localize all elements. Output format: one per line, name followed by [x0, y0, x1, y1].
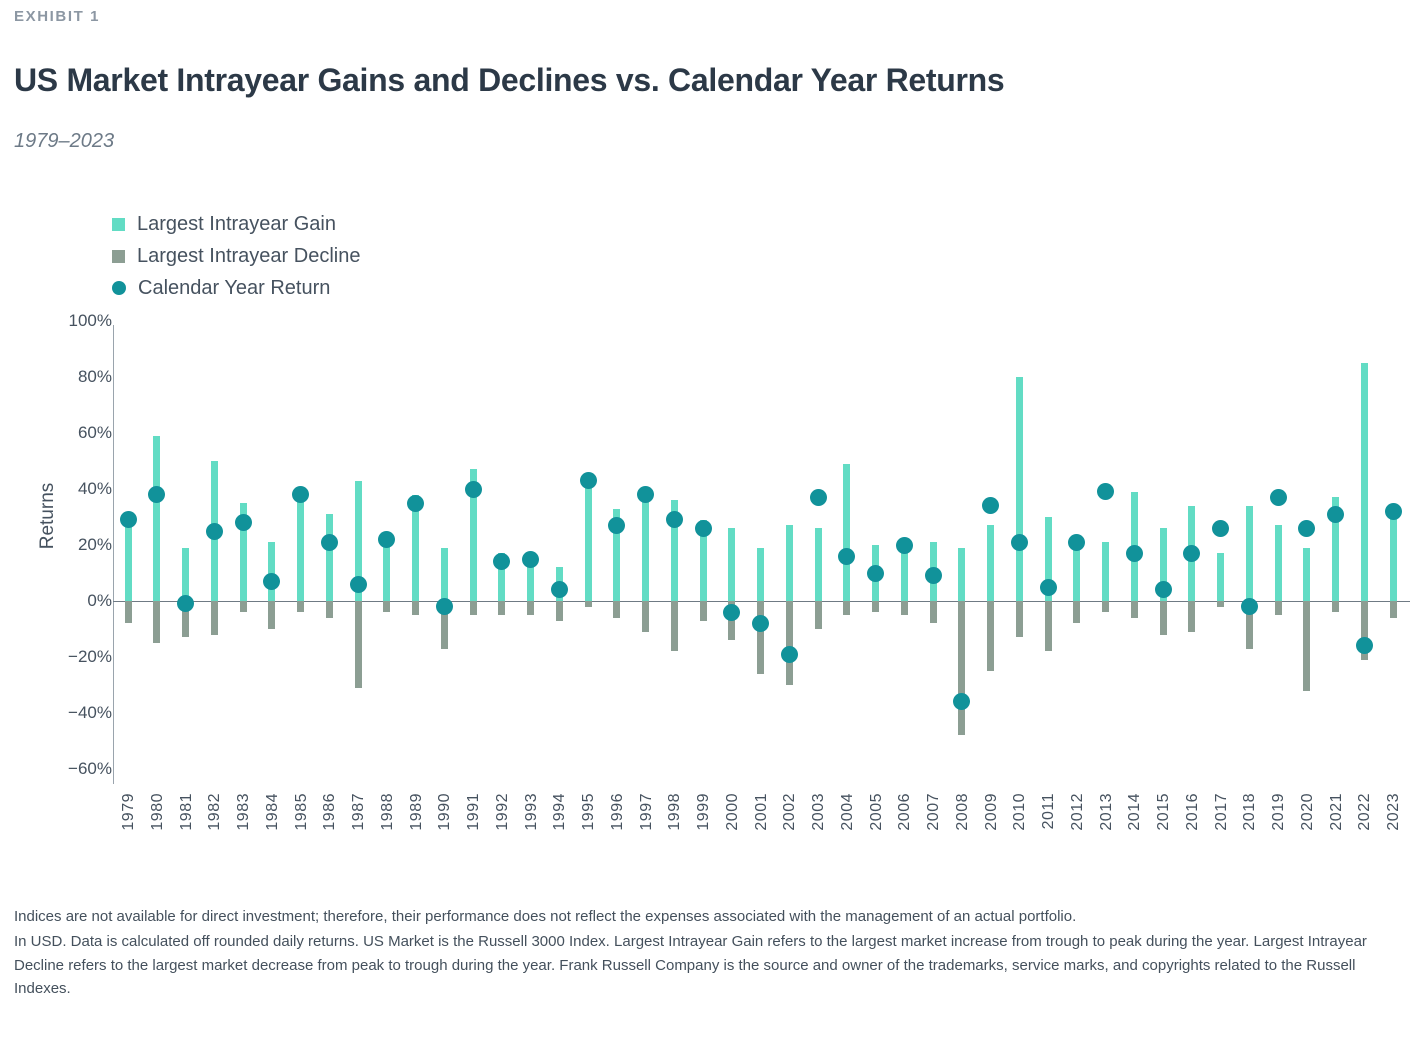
- calendar-return-dot: [465, 481, 482, 498]
- calendar-return-dot: [1298, 520, 1315, 537]
- x-axis-tick-label: 1981: [178, 793, 196, 831]
- decline-bar: [872, 601, 879, 612]
- calendar-return-dot: [781, 646, 798, 663]
- decline-bar: [1332, 601, 1339, 612]
- gain-bar: [268, 542, 275, 601]
- x-axis-tick-label: 1992: [494, 793, 512, 831]
- calendar-return-dot: [436, 598, 453, 615]
- x-axis-tick-label: 2009: [983, 793, 1001, 831]
- x-axis-tick-label: 1990: [436, 793, 454, 831]
- calendar-return-dot: [1011, 534, 1028, 551]
- decline-bar: [987, 601, 994, 671]
- decline-bar: [211, 601, 218, 635]
- y-axis-tick-label: 40%: [42, 479, 112, 499]
- x-axis-tick-label: 1989: [408, 793, 426, 831]
- decline-bar: [815, 601, 822, 629]
- chart-plot-area: Returns 100%80%60%40%20%0%−20%−40%−60%19…: [0, 0, 1421, 900]
- gain-bar: [125, 517, 132, 601]
- gain-bar: [1217, 553, 1224, 601]
- calendar-return-dot: [1270, 489, 1287, 506]
- calendar-return-dot: [695, 520, 712, 537]
- decline-bar: [1131, 601, 1138, 618]
- calendar-return-dot: [982, 497, 999, 514]
- decline-bar: [700, 601, 707, 621]
- x-axis-tick-label: 2016: [1184, 793, 1202, 831]
- calendar-return-dot: [723, 604, 740, 621]
- x-axis-tick-label: 2006: [896, 793, 914, 831]
- calendar-return-dot: [752, 615, 769, 632]
- decline-bar: [412, 601, 419, 615]
- x-axis-tick-label: 1982: [206, 793, 224, 831]
- calendar-return-dot: [493, 553, 510, 570]
- x-axis-tick-label: 2007: [925, 793, 943, 831]
- calendar-return-dot: [551, 581, 568, 598]
- calendar-return-dot: [407, 495, 424, 512]
- x-axis-tick-label: 1997: [638, 793, 656, 831]
- calendar-return-dot: [292, 486, 309, 503]
- calendar-return-dot: [1212, 520, 1229, 537]
- x-axis-tick-label: 2004: [839, 793, 857, 831]
- x-axis-tick-label: 1999: [695, 793, 713, 831]
- decline-bar: [901, 601, 908, 615]
- x-axis-tick-label: 2023: [1385, 793, 1403, 831]
- gain-bar: [843, 464, 850, 601]
- footnote-line: Indices are not available for direct inv…: [14, 905, 1404, 928]
- x-axis-tick-label: 1983: [235, 793, 253, 831]
- y-axis-tick-label: −60%: [42, 759, 112, 779]
- calendar-return-dot: [637, 486, 654, 503]
- x-axis-tick-label: 1985: [293, 793, 311, 831]
- decline-bar: [930, 601, 937, 623]
- decline-bar: [527, 601, 534, 615]
- decline-bar: [355, 601, 362, 688]
- y-axis-tick-label: 100%: [42, 311, 112, 331]
- gain-bar: [153, 436, 160, 601]
- x-axis-tick-label: 1980: [149, 793, 167, 831]
- x-axis-tick-label: 2015: [1155, 793, 1173, 831]
- x-axis-tick-label: 1984: [264, 793, 282, 831]
- y-axis-tick-label: −20%: [42, 647, 112, 667]
- x-axis-tick-label: 2013: [1098, 793, 1116, 831]
- decline-bar: [1390, 601, 1397, 618]
- calendar-return-dot: [666, 511, 683, 528]
- decline-bar: [1217, 601, 1224, 607]
- calendar-return-dot: [235, 514, 252, 531]
- gain-bar: [642, 495, 649, 601]
- gain-bar: [1303, 548, 1310, 601]
- decline-bar: [383, 601, 390, 612]
- decline-bar: [786, 601, 793, 685]
- decline-bar: [613, 601, 620, 618]
- x-axis-tick-label: 1996: [609, 793, 627, 831]
- calendar-return-dot: [522, 551, 539, 568]
- calendar-return-dot: [1126, 545, 1143, 562]
- x-axis-tick-label: 2014: [1126, 793, 1144, 831]
- calendar-return-dot: [867, 565, 884, 582]
- gain-bar: [757, 548, 764, 601]
- calendar-return-dot: [953, 693, 970, 710]
- footnotes: Indices are not available for direct inv…: [14, 905, 1404, 1002]
- decline-bar: [843, 601, 850, 615]
- x-axis-tick-label: 2021: [1328, 793, 1346, 831]
- x-axis-tick-label: 2012: [1069, 793, 1087, 831]
- gain-bar: [1102, 542, 1109, 601]
- x-axis-tick-label: 1979: [120, 793, 138, 831]
- decline-bar: [153, 601, 160, 643]
- x-axis-tick-label: 1998: [666, 793, 684, 831]
- gain-bar: [585, 481, 592, 601]
- calendar-return-dot: [148, 486, 165, 503]
- decline-bar: [498, 601, 505, 615]
- y-axis-tick-label: 20%: [42, 535, 112, 555]
- decline-bar: [1045, 601, 1052, 651]
- calendar-return-dot: [1155, 581, 1172, 598]
- decline-bar: [125, 601, 132, 623]
- x-axis-tick-label: 2001: [753, 793, 771, 831]
- calendar-return-dot: [263, 573, 280, 590]
- footnote-line: In USD. Data is calculated off rounded d…: [14, 930, 1404, 1000]
- calendar-return-dot: [206, 523, 223, 540]
- gain-bar: [987, 525, 994, 601]
- decline-bar: [1073, 601, 1080, 623]
- x-axis-tick-label: 2005: [868, 793, 886, 831]
- calendar-return-dot: [810, 489, 827, 506]
- calendar-return-dot: [1068, 534, 1085, 551]
- decline-bar: [1188, 601, 1195, 632]
- x-axis-tick-label: 1994: [551, 793, 569, 831]
- decline-bar: [556, 601, 563, 621]
- gain-bar: [326, 514, 333, 601]
- calendar-return-dot: [1385, 503, 1402, 520]
- y-axis-tick-label: −40%: [42, 703, 112, 723]
- decline-bar: [240, 601, 247, 612]
- decline-bar: [757, 601, 764, 674]
- gain-bar: [1361, 363, 1368, 601]
- x-axis-tick-label: 1995: [580, 793, 598, 831]
- x-axis-tick-label: 2020: [1299, 793, 1317, 831]
- gain-bar: [901, 548, 908, 601]
- decline-bar: [1160, 601, 1167, 635]
- decline-bar: [958, 601, 965, 735]
- calendar-return-dot: [177, 595, 194, 612]
- gain-bar: [958, 548, 965, 601]
- decline-bar: [268, 601, 275, 629]
- decline-bar: [326, 601, 333, 618]
- x-axis-tick-label: 2010: [1011, 793, 1029, 831]
- x-axis-tick-label: 2019: [1270, 793, 1288, 831]
- y-axis-tick-label: 60%: [42, 423, 112, 443]
- decline-bar: [1303, 601, 1310, 691]
- calendar-return-dot: [1040, 579, 1057, 596]
- gain-bar: [815, 528, 822, 601]
- exhibit-page: EXHIBIT 1 US Market Intrayear Gains and …: [0, 0, 1421, 1044]
- gain-bar: [1390, 511, 1397, 601]
- y-axis-tick-label: 80%: [42, 367, 112, 387]
- calendar-return-dot: [608, 517, 625, 534]
- calendar-return-dot: [378, 531, 395, 548]
- calendar-return-dot: [1097, 483, 1114, 500]
- decline-bar: [1275, 601, 1282, 615]
- decline-bar: [1016, 601, 1023, 637]
- gain-bar: [441, 548, 448, 601]
- decline-bar: [470, 601, 477, 615]
- calendar-return-dot: [925, 567, 942, 584]
- y-axis-tick-label: 0%: [42, 591, 112, 611]
- x-axis-tick-label: 2018: [1241, 793, 1259, 831]
- gain-bar: [182, 548, 189, 601]
- gain-bar: [297, 495, 304, 601]
- decline-bar: [297, 601, 304, 612]
- x-axis-tick-label: 2002: [781, 793, 799, 831]
- gain-bar: [786, 525, 793, 601]
- decline-bar: [642, 601, 649, 632]
- y-axis-line: [113, 325, 114, 784]
- gain-bar: [1275, 525, 1282, 601]
- decline-bar: [585, 601, 592, 607]
- calendar-return-dot: [120, 511, 137, 528]
- calendar-return-dot: [838, 548, 855, 565]
- calendar-return-dot: [350, 576, 367, 593]
- y-axis-ticks: 100%80%60%40%20%0%−20%−40%−60%: [40, 0, 112, 900]
- x-axis-tick-label: 2017: [1213, 793, 1231, 831]
- decline-bar: [1102, 601, 1109, 612]
- x-axis-tick-label: 1993: [523, 793, 541, 831]
- x-axis-tick-label: 2008: [954, 793, 972, 831]
- x-axis-tick-label: 1991: [465, 793, 483, 831]
- calendar-return-dot: [1327, 506, 1344, 523]
- x-axis-tick-label: 1988: [379, 793, 397, 831]
- calendar-return-dot: [1183, 545, 1200, 562]
- decline-bar: [671, 601, 678, 651]
- x-axis-tick-label: 1986: [321, 793, 339, 831]
- calendar-return-dot: [896, 537, 913, 554]
- calendar-return-dot: [1356, 637, 1373, 654]
- x-axis-tick-label: 2000: [724, 793, 742, 831]
- gain-bar: [1246, 506, 1253, 601]
- x-axis-tick-label: 2011: [1040, 793, 1058, 829]
- calendar-return-dot: [1241, 598, 1258, 615]
- gain-bar: [728, 528, 735, 601]
- x-axis-tick-label: 1987: [350, 793, 368, 831]
- calendar-return-dot: [580, 472, 597, 489]
- gain-bar: [1016, 377, 1023, 601]
- x-axis-tick-label: 2003: [810, 793, 828, 831]
- x-axis-tick-label: 2022: [1356, 793, 1374, 831]
- calendar-return-dot: [321, 534, 338, 551]
